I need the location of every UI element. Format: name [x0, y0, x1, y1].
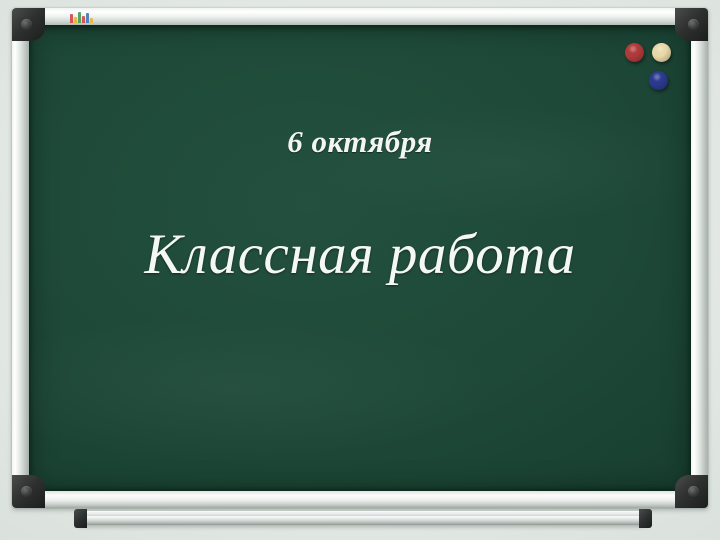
brand-logo-bar-1 [74, 17, 77, 23]
frame-rail-left [12, 8, 29, 508]
brand-logo-bar-5 [90, 18, 93, 23]
frame-rail-bottom [12, 491, 708, 508]
chalk-tray-cap-right [639, 509, 652, 528]
corner-bracket-bottom-right [675, 475, 708, 508]
corner-bracket-top-right [675, 8, 708, 41]
frame-rail-right [691, 8, 708, 508]
date-text: 6 октября [29, 125, 691, 159]
frame-rail-top [12, 8, 708, 25]
chalkboard: 6 октября Классная работа [12, 8, 708, 508]
brand-logo-icon [70, 11, 96, 23]
brand-logo-bar-3 [82, 16, 85, 23]
chalk-tray-cap-left [74, 509, 87, 528]
corner-bracket-bottom-left [12, 475, 45, 508]
chalk-tray-lip [78, 511, 648, 516]
blue-magnet[interactable] [649, 71, 668, 90]
cream-magnet[interactable] [652, 43, 671, 62]
board-writing-surface: 6 октября Классная работа [29, 25, 691, 491]
corner-bracket-top-left [12, 8, 45, 41]
red-magnet[interactable] [625, 43, 644, 62]
chalk-tray-rail [78, 511, 648, 525]
chalk-tray [78, 508, 648, 528]
slide-canvas: 6 октября Классная работа [0, 0, 720, 540]
brand-logo-bar-2 [78, 12, 81, 23]
brand-logo-bar-0 [70, 14, 73, 23]
brand-logo-bar-4 [86, 13, 89, 23]
chalk-text-block: 6 октября Классная работа [29, 125, 691, 285]
lesson-title-text: Классная работа [29, 225, 691, 285]
